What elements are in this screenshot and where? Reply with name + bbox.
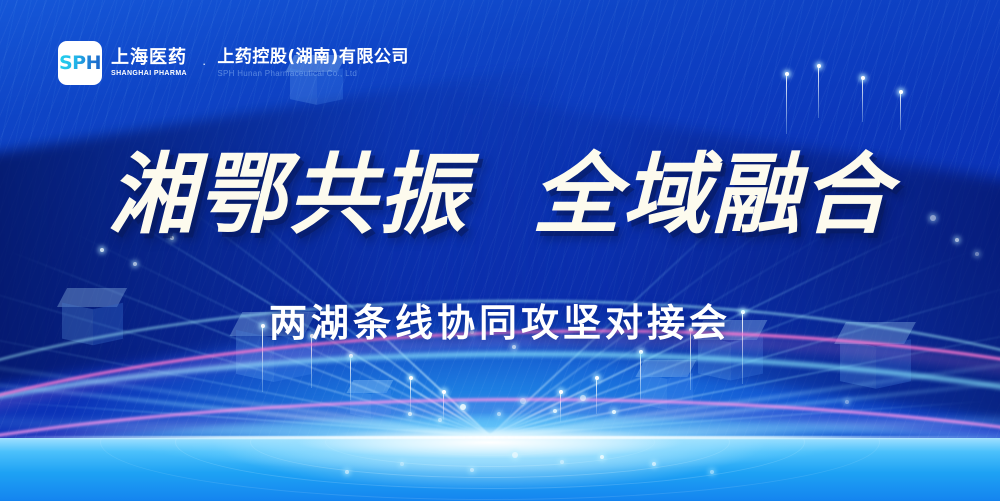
floating-cube xyxy=(640,360,692,412)
sparkle xyxy=(955,238,959,242)
light-pole xyxy=(900,92,901,130)
company-name-en: SPH Hunan Pharmaceutical Co., Ltd xyxy=(217,70,409,78)
light-pole xyxy=(410,378,411,412)
title-part-2: 全域融合 xyxy=(532,150,892,238)
sparkle xyxy=(520,398,526,404)
brand-name-en: SHANGHAI PHARMA xyxy=(111,70,187,77)
sparkle xyxy=(438,418,442,422)
brand-name-cn: 上海医药 xyxy=(111,49,187,67)
company-name-cn: 上药控股(湖南)有限公司 xyxy=(217,49,409,66)
light-pole xyxy=(818,66,819,118)
sparkle xyxy=(580,395,586,401)
light-ray xyxy=(490,368,1000,439)
light-pole xyxy=(640,352,641,400)
sparkle xyxy=(460,404,466,410)
light-pole xyxy=(786,74,787,134)
sparkle xyxy=(408,412,412,416)
light-pole xyxy=(350,356,351,400)
floating-cube xyxy=(350,380,390,420)
sparkle xyxy=(100,248,104,252)
poster-canvas: SPH 上海医药 SHANGHAI PHARMA · 上药控股(湖南)有限公司 … xyxy=(0,0,1000,501)
title-part-1: 湘鄂共振 xyxy=(108,150,468,238)
light-pole xyxy=(560,392,561,422)
sph-logo-text: SPH xyxy=(59,52,101,74)
light-pole xyxy=(443,392,444,420)
sparkle xyxy=(612,410,616,414)
sparkle xyxy=(553,409,557,413)
company-lockup: 上药控股(湖南)有限公司 SPH Hunan Pharmaceutical Co… xyxy=(217,49,409,78)
light-ray xyxy=(0,400,490,437)
light-ray xyxy=(0,368,490,439)
light-pole xyxy=(862,78,863,122)
main-title: 湘鄂共振 全域融合 xyxy=(0,150,1000,238)
brand-lockup: 上海医药 SHANGHAI PHARMA xyxy=(111,49,187,77)
light-pole xyxy=(596,378,597,414)
sph-logo-icon: SPH xyxy=(58,41,102,85)
sparkle xyxy=(133,262,137,266)
brand-header: SPH 上海医药 SHANGHAI PHARMA · 上药控股(湖南)有限公司 … xyxy=(58,41,409,85)
ground-plane xyxy=(0,438,1000,501)
light-ray xyxy=(490,400,989,437)
event-subtitle: 两湖条线协同攻坚对接会 xyxy=(0,292,1000,347)
sparkle xyxy=(845,400,849,404)
sparkle xyxy=(975,252,979,256)
sparkle xyxy=(497,412,501,416)
brand-separator-dot: · xyxy=(202,56,206,71)
